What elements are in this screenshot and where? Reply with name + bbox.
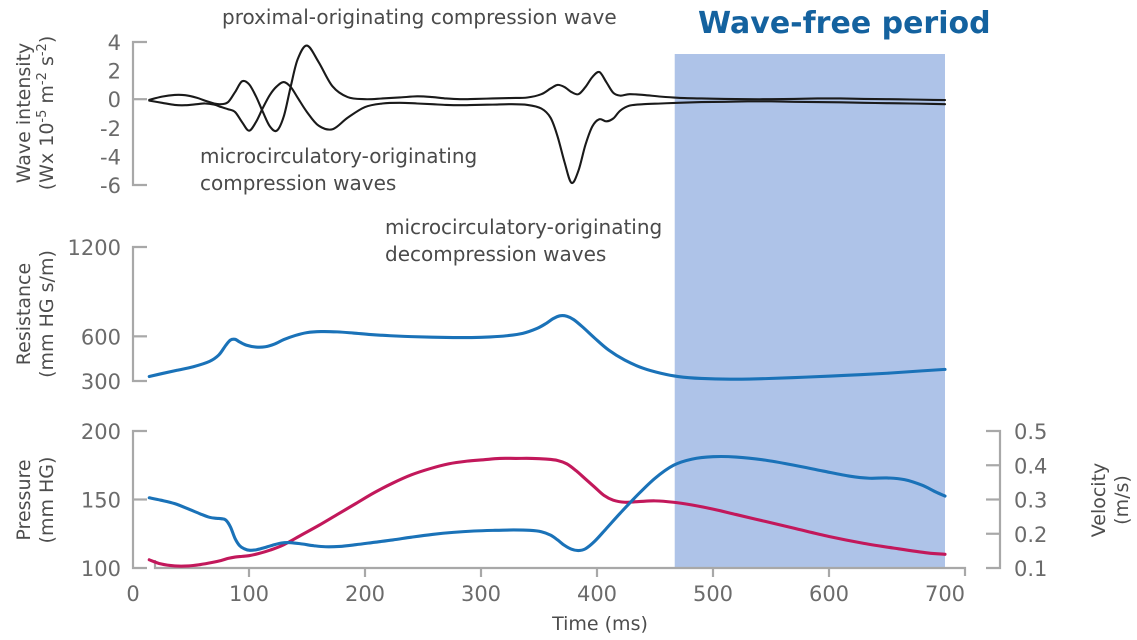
pressure-ticklabel: 200 (81, 420, 121, 444)
resistance-ticklabel: 600 (81, 325, 121, 349)
wave-intensity-axis-label: Wave intensity(Wx 10-5 m-2 s-2) (13, 36, 58, 191)
wave-intensity-axis-spine (133, 42, 147, 185)
resistance-axis-label-line2: (mm HG s/m) (36, 250, 58, 378)
velocity-ticklabel: 0.3 (1014, 489, 1047, 513)
time-ticklabel: 300 (461, 582, 501, 606)
time-ticklabel: 700 (925, 582, 965, 606)
time-ticklabel: 500 (693, 582, 733, 606)
wave-intensity-ticklabel: -6 (100, 174, 121, 198)
velocity-ticklabel: 0.5 (1014, 420, 1047, 444)
wave-free-band (675, 54, 945, 568)
time-ticklabel: 400 (577, 582, 617, 606)
velocity-ticklabel: 0.4 (1014, 454, 1047, 478)
pressure-ticklabel: 150 (81, 489, 121, 513)
wave-intensity-ticklabel: 2 (108, 60, 121, 84)
time-ticklabel: 200 (345, 582, 385, 606)
pressure-axis-label-line2: (mm HG) (36, 457, 58, 544)
velocity-axis-label: Velocity(m/s) (1088, 463, 1133, 538)
annotation-micro-compression-line2: compression waves (200, 171, 396, 195)
annotation-micro-compression-line1: microcirculatory-originating (200, 144, 477, 168)
wave-intensity-axis-label-line2: (Wx 10-5 m-2 s-2) (35, 36, 59, 191)
figure-root: Wave-free period420-2-4-6Wave intensity(… (0, 0, 1137, 640)
time-axis-label: Time (ms) (551, 613, 648, 635)
velocity-axis-label-line1: Velocity (1088, 463, 1110, 538)
pressure-axis-label-line1: Pressure (13, 459, 35, 540)
pressure-axis-label: Pressure(mm HG) (13, 457, 58, 544)
time-ticklabel: 0 (126, 582, 139, 606)
time-ticklabel: 600 (809, 582, 849, 606)
velocity-axis-label-line2: (m/s) (1111, 475, 1133, 525)
wave-intensity-axis-label-line1: Wave intensity (13, 43, 35, 184)
resistance-axis-label-line1: Resistance (13, 263, 35, 365)
wave-intensity-ticklabel: -2 (100, 117, 121, 141)
resistance-ticklabel: 300 (81, 370, 121, 394)
resistance-axis-label: Resistance(mm HG s/m) (13, 250, 58, 378)
wave-intensity-ticklabel: 4 (108, 31, 121, 55)
time-ticklabel: 100 (229, 582, 269, 606)
annotation-micro-decompression-line2: decompression waves (385, 242, 606, 266)
velocity-ticklabel: 0.1 (1014, 557, 1047, 581)
pressure-ticklabel: 100 (81, 557, 121, 581)
resistance-axis-spine (133, 247, 147, 381)
wave-intensity-ticklabel: 0 (108, 88, 121, 112)
annotation-micro-decompression-line1: microcirculatory-originating (385, 215, 662, 239)
scientific-figure: Wave-free period420-2-4-6Wave intensity(… (0, 0, 1137, 640)
annotation-proximal: proximal-originating compression wave (222, 5, 617, 29)
resistance-ticklabel: 1200 (68, 236, 121, 260)
wave-intensity-ticklabel: -4 (100, 145, 121, 169)
velocity-ticklabel: 0.2 (1014, 523, 1047, 547)
wave-free-period-title: Wave-free period (698, 6, 991, 41)
